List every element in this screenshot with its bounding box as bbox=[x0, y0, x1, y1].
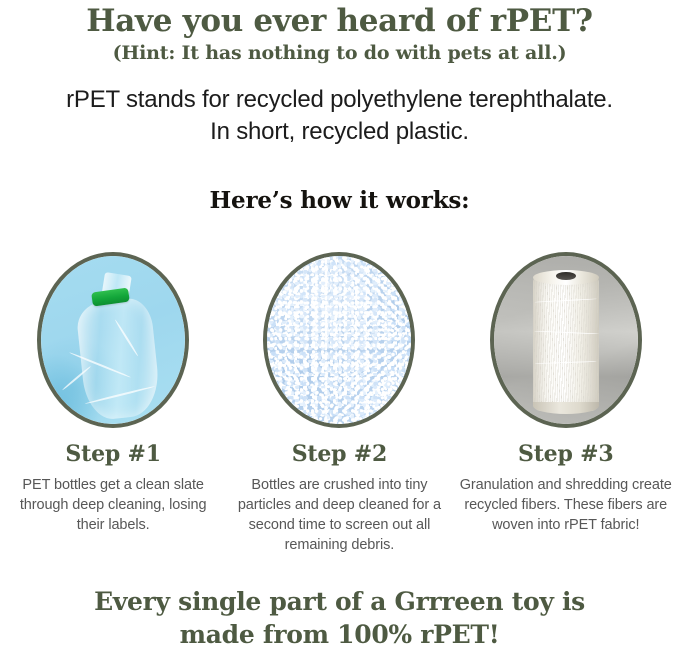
section-heading: Here’s how it works: bbox=[0, 186, 679, 216]
spool-thread-body bbox=[533, 276, 599, 410]
closing-statement: Every single part of a Grrreen toy is ma… bbox=[0, 585, 679, 651]
plastic-pellets-photo bbox=[267, 256, 411, 424]
step-item-2: Step #2 Bottles are crushed into tiny pa… bbox=[226, 252, 452, 555]
steps-row: Step #1 PET bottles get a clean slate th… bbox=[0, 252, 679, 555]
thread-spool-photo bbox=[494, 256, 638, 424]
intro-paragraph: rPET stands for recycled polyethylene te… bbox=[0, 84, 679, 148]
page-title: Have you ever heard of rPET? bbox=[0, 2, 679, 40]
closing-line-2: made from 100% rPET! bbox=[0, 618, 679, 651]
step-1-description: PET bottles get a clean slate through de… bbox=[5, 475, 221, 535]
step-2-image-circle bbox=[263, 252, 415, 428]
step-3-image-circle bbox=[490, 252, 642, 428]
pellets-photo-texture bbox=[267, 256, 411, 424]
intro-line-1: rPET stands for recycled polyethylene te… bbox=[0, 84, 679, 116]
crushed-pet-bottle-photo bbox=[41, 256, 185, 424]
pellets-highlight bbox=[267, 256, 411, 424]
step-2-title: Step #2 bbox=[292, 441, 387, 467]
step-3-title: Step #3 bbox=[518, 441, 613, 467]
intro-line-2: In short, recycled plastic. bbox=[0, 116, 679, 148]
step-item-3: Step #3 Granulation and shredding create… bbox=[453, 252, 679, 555]
step-item-1: Step #1 PET bottles get a clean slate th… bbox=[0, 252, 226, 555]
step-3-description: Granulation and shredding create recycle… bbox=[458, 475, 674, 535]
step-1-image-circle bbox=[37, 252, 189, 428]
rpet-infographic: Have you ever heard of rPET? (Hint: It h… bbox=[0, 0, 679, 649]
bottle-photo-background bbox=[41, 256, 185, 424]
page-subtitle: (Hint: It has nothing to do with pets at… bbox=[0, 41, 679, 65]
spool-photo-background bbox=[494, 256, 638, 424]
step-1-title: Step #1 bbox=[65, 441, 160, 467]
closing-line-1: Every single part of a Grrreen toy is bbox=[0, 585, 679, 618]
step-2-description: Bottles are crushed into tiny particles … bbox=[231, 475, 447, 555]
